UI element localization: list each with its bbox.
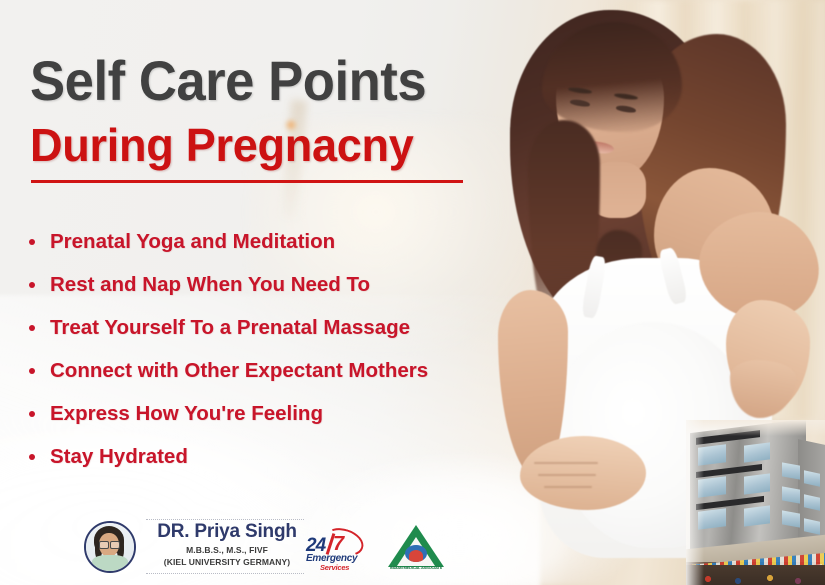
triangle-emblem-circle: [405, 545, 427, 562]
building-entrance-crowd: [686, 565, 825, 585]
hospital-building-photo: [686, 420, 825, 585]
doctor-university: (KIEL UNIVERSITY GERMANY): [146, 557, 308, 567]
list-item: Stay Hydrated: [26, 435, 496, 478]
title-underline: [31, 180, 463, 183]
avatar: [84, 521, 136, 573]
association-triangle-logo: INDIAN MEDICAL ASSOCIATION: [388, 525, 444, 571]
avatar-glasses-left: [99, 541, 109, 549]
building-blend-left: [686, 420, 704, 585]
avatar-glasses-right: [110, 541, 120, 549]
list-item: Express How You're Feeling: [26, 392, 496, 435]
building-window-side: [782, 486, 800, 503]
triangle-logo-caption: INDIAN MEDICAL ASSOCIATION: [390, 565, 442, 570]
divider-bottom: [146, 573, 304, 575]
finger-crease-1: [534, 462, 598, 464]
hand-on-belly: [520, 436, 646, 510]
building-window: [744, 473, 770, 494]
building-blend-top: [686, 420, 825, 436]
list-item: Treat Yourself To a Prenatal Massage: [26, 306, 496, 349]
logo-services-text: Services: [320, 563, 349, 572]
avatar-clothing: [92, 555, 128, 571]
building-window: [744, 505, 770, 526]
self-care-list: Prenatal Yoga and Meditation Rest and Na…: [26, 220, 496, 478]
doctor-degrees: M.B.B.S., M.S., FIVF: [146, 545, 308, 555]
finger-crease-2: [538, 474, 596, 476]
building-window: [744, 442, 770, 462]
finger-crease-3: [544, 486, 592, 488]
list-item: Connect with Other Expectant Mothers: [26, 349, 496, 392]
doctor-name: DR. Priya Singh: [146, 521, 308, 543]
page-subtitle: During Pregnacny: [30, 118, 414, 172]
emergency-24x7-logo: 24 7 Emergency Services: [306, 527, 364, 571]
building-window-side: [782, 462, 800, 479]
list-item: Prenatal Yoga and Meditation: [26, 220, 496, 263]
page-title: Self Care Points: [30, 48, 426, 113]
poster-canvas: Self Care Points During Pregnacny Prenat…: [0, 0, 825, 585]
footer-branding: DR. Priya Singh M.B.B.S., M.S., FIVF (KI…: [0, 507, 470, 585]
building-window-side: [782, 510, 800, 527]
triangle-emblem-center: [409, 550, 423, 562]
list-item: Rest and Nap When You Need To: [26, 263, 496, 306]
doctor-credential-card: DR. Priya Singh M.B.B.S., M.S., FIVF (KI…: [84, 515, 304, 577]
